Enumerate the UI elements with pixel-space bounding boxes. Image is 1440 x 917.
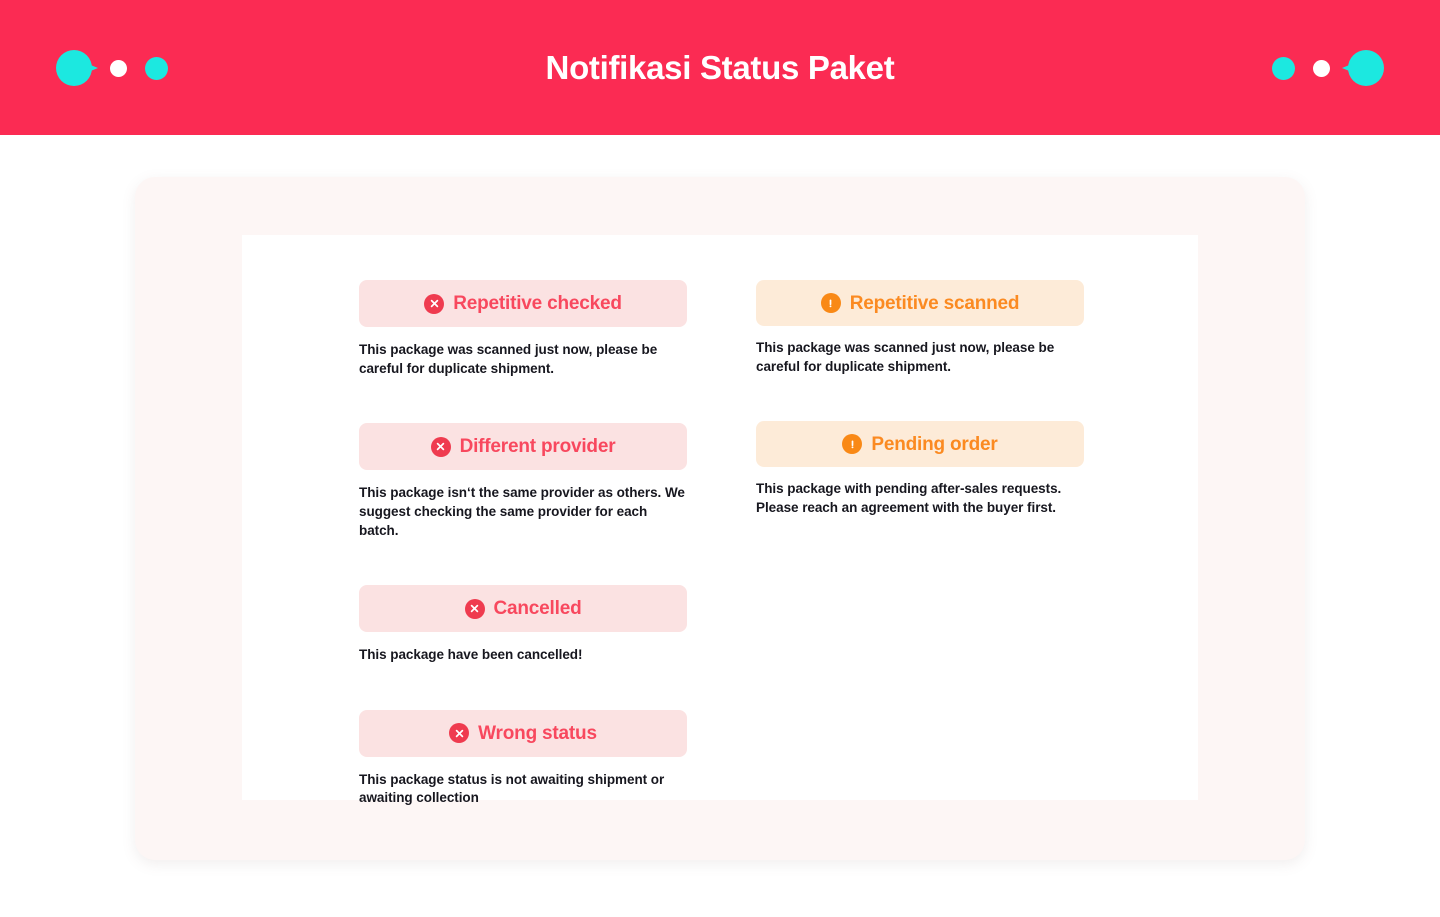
status-badge-label: Cancelled: [494, 599, 582, 618]
white-dot-icon: [1313, 60, 1330, 77]
status-badge[interactable]: Wrong status: [359, 710, 687, 757]
header-decoration-left: [56, 50, 168, 86]
status-description: This package isn‘t the same provider as …: [359, 484, 687, 540]
status-card: Wrong status This package status is not …: [359, 710, 687, 808]
page-header: Notifikasi Status Paket: [0, 0, 1440, 135]
outer-panel: Repetitive checked This package was scan…: [135, 177, 1305, 860]
status-description: This package was scanned just now, pleas…: [359, 341, 687, 378]
status-card: Different provider This package isn‘t th…: [359, 423, 687, 540]
status-badge-label: Different provider: [460, 437, 616, 456]
circle-x-icon: [465, 599, 485, 619]
cyan-dot-icon: [145, 57, 168, 80]
status-description: This package with pending after-sales re…: [756, 480, 1084, 517]
status-badge-label: Repetitive scanned: [850, 294, 1020, 313]
status-card: Pending order This package with pending …: [756, 421, 1084, 517]
status-columns: Repetitive checked This package was scan…: [359, 280, 1084, 808]
status-description: This package was scanned just now, pleas…: [756, 339, 1084, 376]
status-badge-label: Pending order: [871, 435, 997, 454]
warning-status-column: Repetitive scanned This package was scan…: [756, 280, 1084, 808]
header-decoration-right: [1272, 50, 1384, 86]
cyan-dot-icon: [1272, 57, 1295, 80]
inner-panel: Repetitive checked This package was scan…: [242, 235, 1198, 800]
status-badge[interactable]: Cancelled: [359, 585, 687, 632]
status-card: Repetitive checked This package was scan…: [359, 280, 687, 378]
circle-exclamation-icon: [821, 293, 841, 313]
teardrop-right-icon: [56, 50, 92, 86]
status-badge[interactable]: Pending order: [756, 421, 1084, 467]
circle-x-icon: [424, 294, 444, 314]
teardrop-left-icon: [1348, 50, 1384, 86]
status-description: This package have been cancelled!: [359, 646, 687, 665]
status-card: Repetitive scanned This package was scan…: [756, 280, 1084, 376]
status-badge[interactable]: Repetitive scanned: [756, 280, 1084, 326]
status-card: Cancelled This package have been cancell…: [359, 585, 687, 665]
status-badge-label: Repetitive checked: [453, 294, 622, 313]
page-title: Notifikasi Status Paket: [546, 51, 895, 84]
status-description: This package status is not awaiting ship…: [359, 771, 687, 808]
circle-exclamation-icon: [842, 434, 862, 454]
status-badge[interactable]: Different provider: [359, 423, 687, 470]
page-body: Repetitive checked This package was scan…: [0, 135, 1440, 917]
circle-x-icon: [431, 437, 451, 457]
status-badge[interactable]: Repetitive checked: [359, 280, 687, 327]
status-badge-label: Wrong status: [478, 724, 597, 743]
circle-x-icon: [449, 723, 469, 743]
white-dot-icon: [110, 60, 127, 77]
error-status-column: Repetitive checked This package was scan…: [359, 280, 687, 808]
